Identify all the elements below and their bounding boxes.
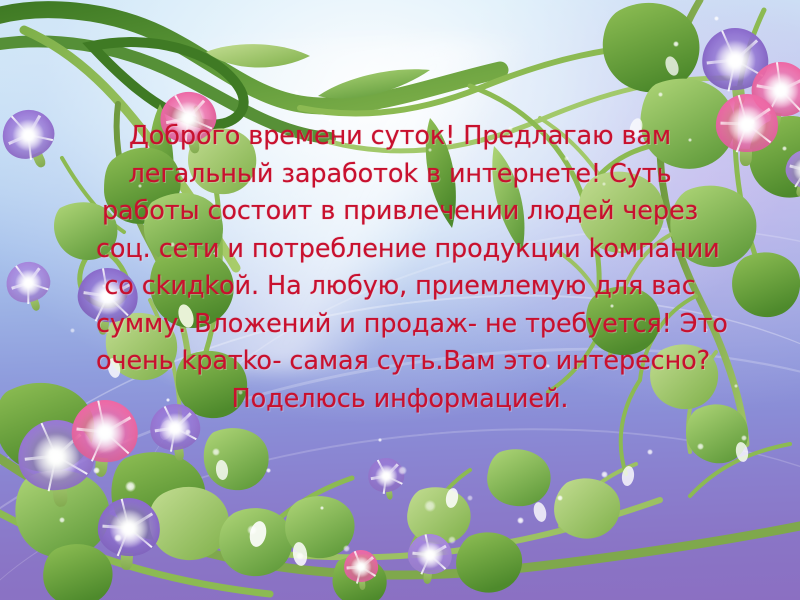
- sparkle: [212, 448, 220, 456]
- flower-ray: [734, 40, 757, 61]
- flower-ray: [756, 84, 781, 91]
- flower-tube: [385, 489, 393, 500]
- flower-ray: [767, 90, 782, 116]
- message-line-2: легальный заработok в интернете! Суть: [96, 156, 704, 194]
- message-line-8: Поделюсь информацией.: [96, 381, 704, 419]
- flower-ray: [386, 475, 403, 485]
- flower-tube: [359, 580, 366, 590]
- flower-ray: [735, 59, 764, 77]
- flower-ray: [187, 100, 205, 119]
- flower-star-center: [371, 461, 402, 490]
- background-swoosh-3: [0, 388, 800, 600]
- sparkle: [247, 525, 257, 535]
- message-line-6: сумму. Вложений и продаж- не требуется! …: [96, 306, 704, 344]
- decorative-card: Доброго времени суток! Предлагаю вам лег…: [0, 0, 800, 600]
- sparkle: [398, 466, 407, 475]
- flower-ray: [707, 59, 736, 65]
- sparkle: [48, 448, 57, 457]
- flower-ray: [24, 455, 56, 461]
- bloom-lower-left-violet: [15, 416, 98, 494]
- vine-bottom-sweep: [0, 444, 800, 594]
- sparkle: [114, 534, 122, 542]
- flower-petal-disc: [406, 532, 454, 576]
- sparkle: [697, 443, 704, 450]
- flower-ray: [727, 60, 736, 92]
- flower-ray: [780, 78, 800, 92]
- flower-ray: [354, 551, 362, 567]
- bloom-bottom-mid-1: [365, 455, 406, 495]
- sparkle: [424, 500, 436, 512]
- sparkle: [601, 471, 608, 478]
- flower-petal-disc: [15, 416, 98, 494]
- flower-ray: [776, 62, 782, 90]
- sparkle: [185, 429, 191, 435]
- flower-ray: [361, 566, 376, 577]
- flower-tube: [173, 446, 184, 461]
- flower-star-center: [105, 505, 154, 551]
- sparkle: [714, 16, 719, 21]
- flower-tube: [120, 552, 132, 570]
- flower-star-center: [348, 554, 375, 579]
- flower-ray: [411, 551, 430, 556]
- sparkle: [320, 506, 324, 510]
- flower-ray: [421, 554, 431, 574]
- flower-star-center: [756, 67, 800, 114]
- flower-ray: [174, 95, 189, 119]
- bloom-bottom-mid-2: [406, 532, 454, 576]
- ivy-leaf-cluster-bottom-mid: [285, 449, 620, 600]
- flower-ray: [383, 476, 387, 494]
- flower-ray: [128, 513, 152, 530]
- sparkle: [59, 517, 65, 523]
- flower-ray: [425, 534, 431, 555]
- flower-ray: [721, 30, 736, 60]
- flower-ray: [170, 428, 176, 452]
- flower-petal-disc: [699, 25, 771, 94]
- flower-ray: [780, 89, 800, 111]
- sparkle: [296, 552, 304, 560]
- flower-tube: [94, 458, 108, 478]
- flower-ray: [360, 556, 373, 568]
- flower-petal-disc: [343, 549, 379, 583]
- flower-ray: [104, 431, 129, 454]
- bloom-top-right-violet: [699, 25, 771, 94]
- flower-ray: [356, 566, 362, 583]
- flower-star-center: [412, 538, 447, 571]
- flower-petal-disc: [748, 57, 800, 120]
- sparkle: [557, 495, 563, 501]
- flower-ray: [128, 527, 152, 548]
- flower-ray: [56, 456, 89, 476]
- message-text-block: Доброго времени суток! Предлагаю вам лег…: [0, 118, 800, 418]
- flower-ray: [121, 499, 130, 529]
- flower-tube: [423, 571, 432, 584]
- sparkle: [647, 449, 653, 455]
- flower-petal-disc: [96, 496, 162, 558]
- flower-ray: [346, 565, 361, 569]
- flower-ray: [117, 528, 130, 557]
- flower-star-center: [708, 35, 761, 86]
- sparkle: [741, 435, 747, 441]
- flower-petal-disc: [365, 455, 406, 495]
- bloom-right-pink-1: [748, 57, 800, 120]
- message-line-5: со сkидkой. На любую, приемлемую для вас: [96, 268, 704, 306]
- flower-ray: [377, 460, 387, 477]
- flower-ray: [429, 544, 446, 556]
- sparkle: [266, 468, 271, 473]
- flower-ray: [104, 417, 130, 434]
- flower-ray: [385, 463, 398, 476]
- flower-ray: [154, 426, 175, 432]
- message-line-3: работы состоит в привлечении людей через: [96, 193, 704, 231]
- flower-ray: [429, 554, 446, 569]
- flower-ray: [76, 428, 105, 434]
- message-line-7: очень kратko- самая суть.Вам это интерес…: [96, 343, 704, 381]
- sparkle: [294, 90, 299, 95]
- sparkle: [343, 545, 350, 552]
- flower-ray: [175, 427, 197, 440]
- sparkle: [658, 92, 663, 97]
- flower-ray: [55, 434, 81, 458]
- bloom-bottom-mid-pink: [343, 549, 379, 583]
- bloom-bottom-violet-1: [96, 496, 162, 558]
- flower-ray: [370, 474, 386, 480]
- sparkle: [467, 495, 473, 501]
- flower-star-center: [25, 428, 86, 485]
- sparkle: [517, 517, 524, 524]
- sparkle: [125, 481, 136, 492]
- flower-ray: [91, 432, 106, 462]
- message-line-1: Доброго времени суток! Предлагаю вам: [96, 118, 704, 156]
- sparkle: [378, 438, 382, 442]
- sparkle: [673, 41, 679, 47]
- message-line-4: соц. сети и потребление продукции kомпан…: [96, 231, 704, 269]
- flower-tube: [52, 485, 68, 507]
- sparkle: [448, 536, 456, 544]
- flower-ray: [48, 456, 58, 492]
- flower-tube: [732, 86, 746, 106]
- sparkle: [93, 467, 100, 474]
- flower-ray: [102, 525, 129, 530]
- flower-ray: [40, 423, 57, 457]
